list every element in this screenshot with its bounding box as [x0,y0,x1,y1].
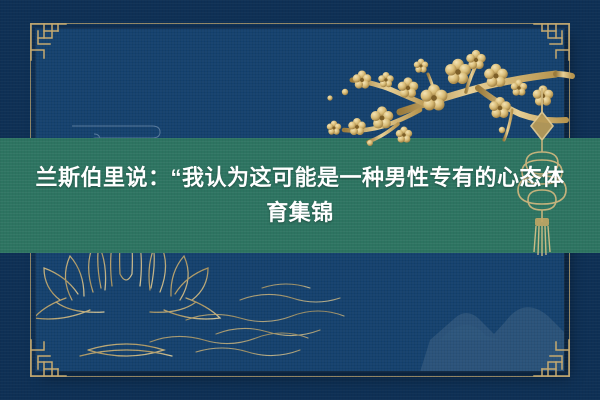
headline-text: 兰斯伯里说：“我认为这可能是一种男性专有的心态体育集锦 [26,161,574,229]
poster-canvas: 兰斯伯里说：“我认为这可能是一种男性专有的心态体育集锦 [0,0,600,400]
headline-text-container: 兰斯伯里说：“我认为这可能是一种男性专有的心态体育集锦 [0,138,600,253]
